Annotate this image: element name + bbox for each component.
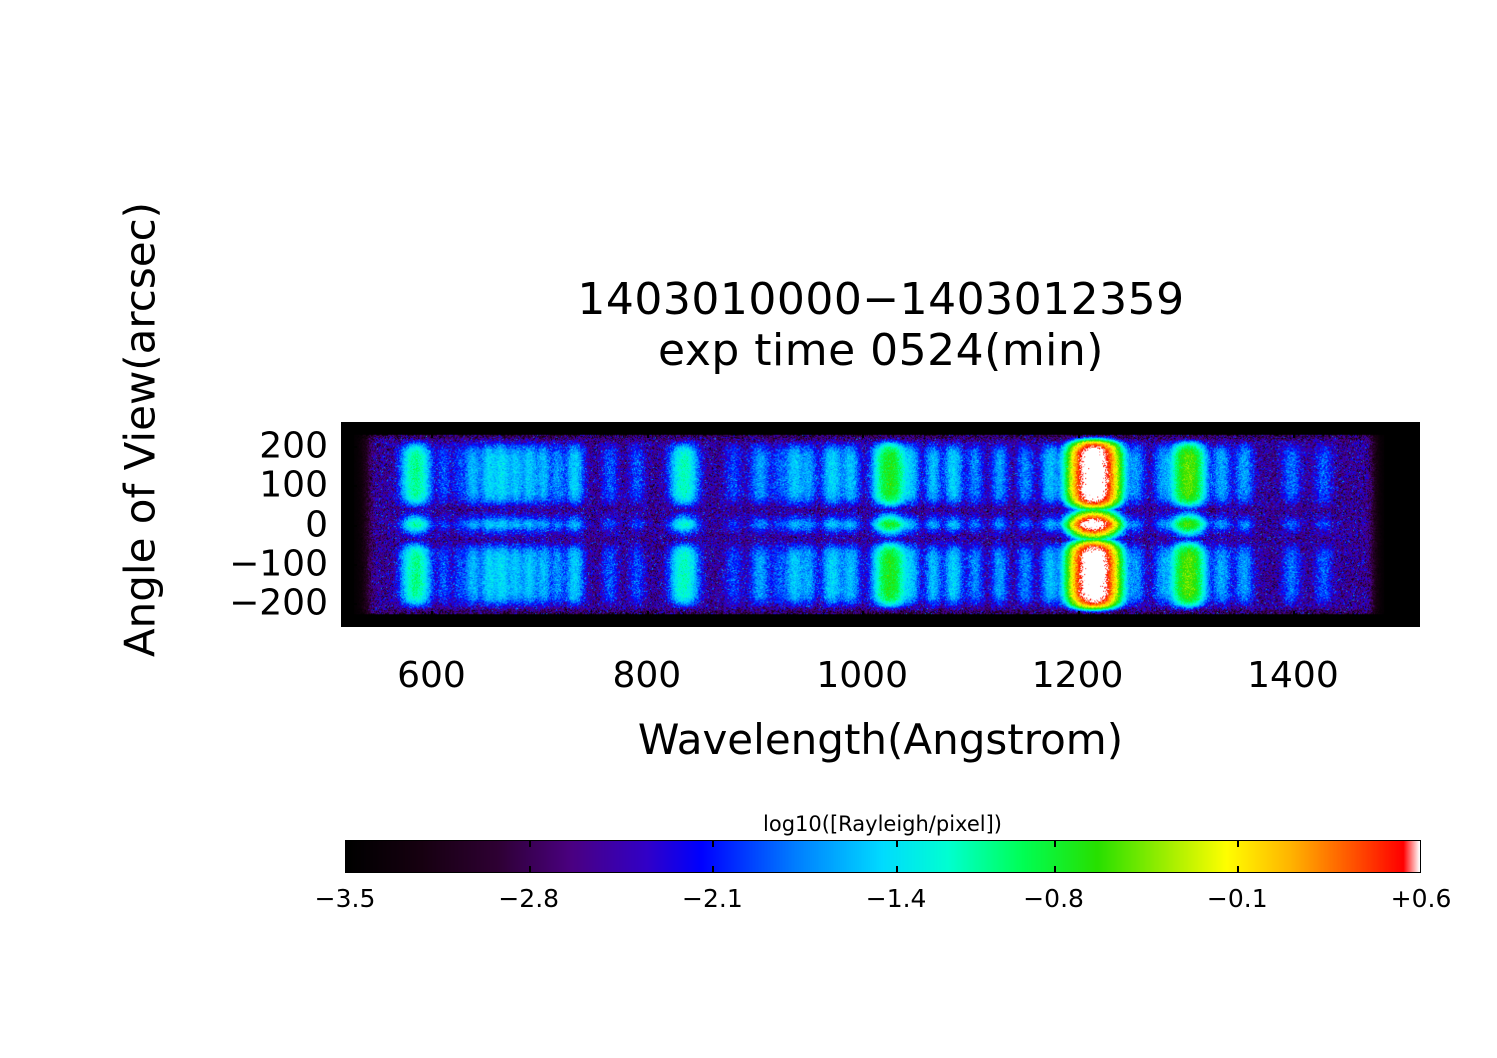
y-axis-tick-label: 100: [259, 465, 328, 506]
colorbar-tick-label: −0.8: [1023, 884, 1084, 913]
axis-tick: [1411, 588, 1420, 590]
axis-tick: [341, 564, 357, 566]
axis-tick: [341, 611, 350, 613]
spectrogram-figure: 1403010000−1403012359 exp time 0524(min)…: [0, 0, 1497, 1058]
axis-tick: [1202, 422, 1204, 431]
axis-tick: [879, 618, 881, 627]
axis-tick: [341, 461, 350, 463]
axis-tick: [826, 618, 828, 627]
axis-tick: [879, 422, 881, 431]
colorbar: [345, 840, 1421, 873]
axis-tick: [1404, 446, 1420, 448]
axis-tick: [1411, 556, 1420, 558]
axis-tick: [341, 556, 350, 558]
axis-tick: [1404, 564, 1420, 566]
axis-tick: [1149, 618, 1151, 627]
axis-tick: [862, 611, 864, 627]
axis-tick: [647, 611, 649, 627]
axis-tick: [862, 422, 864, 438]
axis-tick: [1095, 422, 1097, 431]
axis-tick: [449, 422, 451, 431]
axis-tick: [431, 611, 433, 627]
axis-tick: [772, 618, 774, 627]
y-axis-tick-label: 0: [305, 504, 328, 545]
axis-tick: [341, 572, 350, 574]
axis-tick: [1411, 619, 1420, 621]
axis-tick: [933, 422, 935, 431]
axis-tick: [341, 493, 350, 495]
axis-tick: [341, 540, 350, 542]
colorbar-tick-labels: −3.5−2.8−2.1−1.4−0.8−0.1+0.6: [0, 884, 1497, 924]
axis-tick: [341, 485, 357, 487]
colorbar-tick-label: −2.8: [498, 884, 559, 913]
axis-tick: [341, 580, 350, 582]
axis-tick: [1310, 422, 1312, 431]
colorbar-title: log10([Rayleigh/pixel]): [345, 812, 1420, 836]
title-line-exposure-time: exp time 0524(min): [340, 329, 1422, 374]
y-axis-tick-labels: 2001000−100−200: [180, 422, 328, 627]
axis-tick: [1411, 517, 1420, 519]
x-axis-tick-label: 600: [397, 655, 466, 696]
spectrogram-image: [343, 424, 1418, 625]
title-line-observation-range: 1403010000−1403012359: [340, 278, 1422, 323]
axis-tick: [449, 618, 451, 627]
axis-tick: [1256, 618, 1258, 627]
axis-tick: [987, 618, 989, 627]
axis-tick: [1411, 572, 1420, 574]
x-axis-title: Wavelength(Angstrom): [341, 715, 1420, 764]
axis-tick: [1411, 454, 1420, 456]
axis-tick: [1411, 501, 1420, 503]
y-axis-tick-label: −100: [229, 543, 328, 584]
axis-tick: [1149, 422, 1151, 431]
axis-tick: [1411, 532, 1420, 534]
axis-tick: [556, 422, 558, 431]
axis-tick: [341, 438, 350, 440]
axis-tick: [1411, 611, 1420, 613]
x-axis-tick-labels: 600800100012001400: [0, 655, 1497, 703]
axis-tick: [1310, 618, 1312, 627]
axis-tick: [1293, 611, 1295, 627]
axis-tick: [1411, 477, 1420, 479]
axis-tick: [933, 618, 935, 627]
axis-tick: [610, 422, 612, 431]
spectrogram-plot-area: [341, 422, 1420, 627]
colorbar-tick-label: −0.1: [1207, 884, 1268, 913]
colorbar-tick-label: −2.1: [682, 884, 743, 913]
x-axis-tick-label: 1400: [1247, 655, 1339, 696]
axis-tick: [341, 430, 350, 432]
axis-tick: [1411, 493, 1420, 495]
colorbar-tick-label: −1.4: [866, 884, 927, 913]
axis-tick: [341, 501, 350, 503]
axis-tick: [610, 618, 612, 627]
axis-tick: [1404, 525, 1420, 527]
axis-tick: [1411, 509, 1420, 511]
axis-tick: [1078, 422, 1080, 438]
axis-tick: [826, 422, 828, 431]
axis-tick: [772, 422, 774, 431]
axis-tick: [341, 548, 350, 550]
axis-tick: [341, 517, 350, 519]
axis-tick: [1202, 618, 1204, 627]
colorbar-tick-label: +0.6: [1391, 884, 1452, 913]
axis-tick: [1411, 469, 1420, 471]
axis-tick: [341, 532, 350, 534]
axis-tick: [1041, 618, 1043, 627]
axis-tick: [341, 525, 357, 527]
axis-tick: [718, 618, 720, 627]
axis-tick: [1364, 422, 1366, 431]
axis-tick: [341, 595, 350, 597]
axis-tick: [503, 618, 505, 627]
axis-tick: [1041, 422, 1043, 431]
axis-tick: [1095, 618, 1097, 627]
axis-tick: [1411, 438, 1420, 440]
axis-tick: [341, 469, 350, 471]
axis-tick: [664, 618, 666, 627]
plot-title: 1403010000−1403012359 exp time 0524(min): [340, 278, 1422, 374]
x-axis-tick-label: 1200: [1032, 655, 1124, 696]
axis-tick: [431, 422, 433, 438]
axis-tick: [718, 422, 720, 431]
axis-tick: [556, 618, 558, 627]
axis-tick: [341, 603, 357, 605]
y-axis-title: Angle of View(arcsec): [116, 150, 165, 710]
axis-tick: [1404, 485, 1420, 487]
axis-tick: [1404, 603, 1420, 605]
axis-tick: [395, 618, 397, 627]
y-axis-tick-label: −200: [229, 583, 328, 624]
axis-tick: [647, 422, 649, 438]
axis-tick: [341, 477, 350, 479]
axis-tick: [987, 422, 989, 431]
axis-tick: [1364, 618, 1366, 627]
axis-tick: [1411, 548, 1420, 550]
axis-tick: [1256, 422, 1258, 431]
axis-tick: [1411, 430, 1420, 432]
axis-tick: [395, 422, 397, 431]
axis-tick: [1411, 540, 1420, 542]
axis-tick: [341, 619, 350, 621]
y-axis-tick-label: 200: [259, 425, 328, 466]
axis-tick: [664, 422, 666, 431]
colorbar-gradient: [346, 841, 1420, 872]
axis-tick: [503, 422, 505, 431]
axis-tick: [1411, 595, 1420, 597]
axis-tick: [1078, 611, 1080, 627]
x-axis-tick-label: 1000: [816, 655, 908, 696]
x-axis-tick-label: 800: [612, 655, 681, 696]
axis-tick: [1293, 422, 1295, 438]
axis-tick: [341, 454, 350, 456]
axis-tick: [1411, 461, 1420, 463]
axis-tick: [1411, 580, 1420, 582]
axis-tick: [341, 509, 350, 511]
axis-tick: [341, 446, 357, 448]
axis-tick: [341, 588, 350, 590]
colorbar-tick-label: −3.5: [315, 884, 376, 913]
